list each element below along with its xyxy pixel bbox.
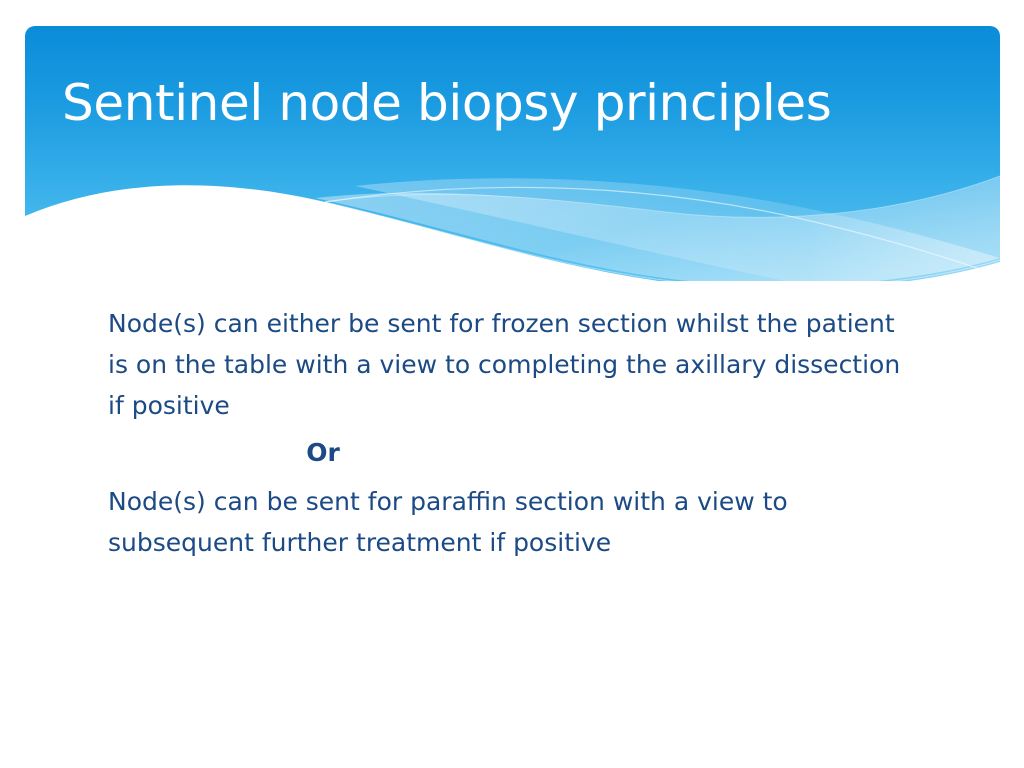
body-paragraph-2: Node(s) can be sent for paraffin section… — [108, 481, 918, 563]
wave-graphic — [25, 26, 1000, 281]
body-connector-or: Or — [108, 426, 918, 479]
presentation-slide: Sentinel node biopsy principles Node(s) … — [0, 0, 1024, 768]
slide-body: Node(s) can either be sent for frozen se… — [108, 303, 928, 563]
slide-title: Sentinel node biopsy principles — [62, 72, 942, 152]
body-paragraph-1: Node(s) can either be sent for frozen se… — [108, 303, 918, 426]
header-banner-decoration — [25, 26, 1000, 281]
